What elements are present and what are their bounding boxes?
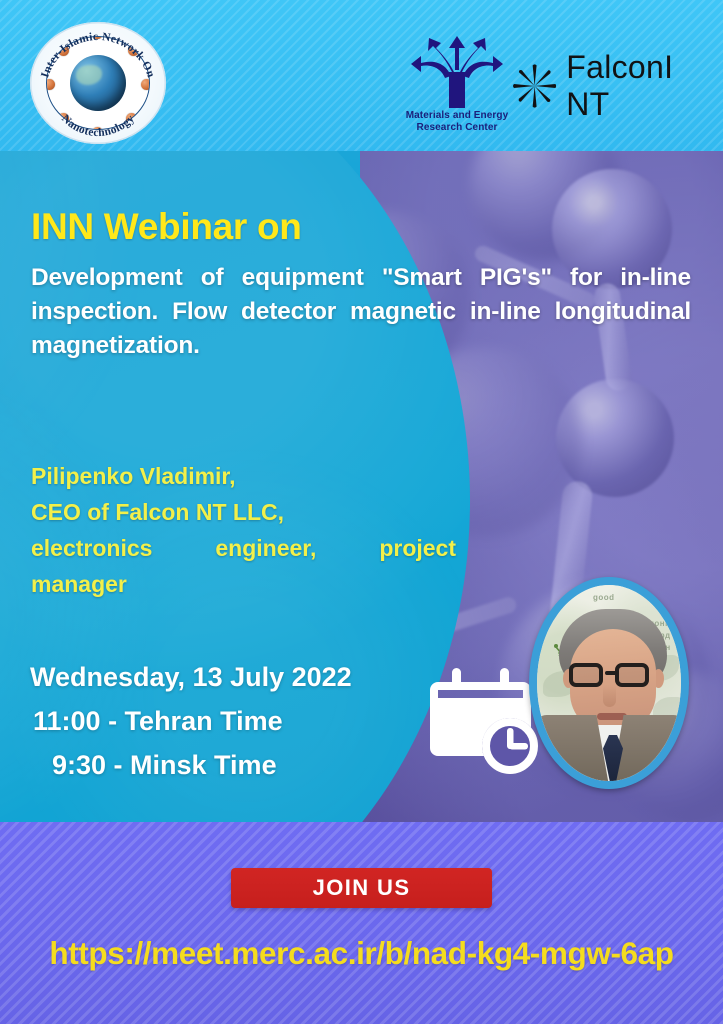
falcon-nt-label: FalconI NT — [566, 49, 723, 123]
event-time-minsk: 9:30 - Minsk Time — [30, 743, 450, 787]
inn-logo: Inter-Islamic Network On Nanotechnology — [30, 22, 166, 144]
pinwheel-icon — [513, 64, 556, 108]
header-band: Inter-Islamic Network On Nanotechnology — [0, 0, 723, 151]
speaker-title-b: engineer, — [215, 530, 316, 566]
merc-arrow-tree-icon — [411, 36, 503, 108]
speaker-portrait: good ионн форд азион — [529, 577, 689, 789]
webinar-subtitle: Development of equipment "Smart PIG's" f… — [31, 261, 691, 363]
inn-logo-arc-text: Inter-Islamic Network On Nanotechnology — [30, 22, 166, 144]
merc-logo: Materials and Energy Research Center — [392, 36, 522, 141]
glasses-icon-right — [615, 663, 649, 687]
glasses-icon-left — [569, 663, 603, 687]
webinar-poster: Inter-Islamic Network On Nanotechnology — [0, 0, 723, 1024]
join-us-button[interactable]: JOIN US — [231, 868, 492, 908]
speaker-info: Pilipenko Vladimir, CEO of Falcon NT LLC… — [31, 458, 456, 602]
merc-caption-line-1: Materials and Energy — [392, 110, 522, 122]
main-content: INN Webinar on Development of equipment … — [0, 151, 723, 822]
glasses-bridge — [605, 671, 617, 675]
svg-text:Nanotechnology: Nanotechnology — [59, 113, 137, 139]
speaker-name: Pilipenko Vladimir, — [31, 458, 456, 494]
speaker-title-c: project — [379, 530, 456, 566]
event-time-tehran: 11:00 - Tehran Time — [30, 699, 450, 743]
speaker-title-d: manager — [31, 566, 456, 602]
schedule-block: Wednesday, 13 July 2022 11:00 - Tehran T… — [30, 655, 450, 787]
merc-caption-line-2: Research Center — [392, 122, 522, 134]
svg-text:Inter-Islamic Network On: Inter-Islamic Network On — [39, 31, 157, 80]
speaker-title-a: electronics — [31, 530, 152, 566]
meeting-url-link[interactable]: https://meet.merc.ac.ir/b/nad-kg4-mgw-6a… — [0, 935, 723, 972]
page-title: INN Webinar on — [31, 207, 511, 247]
portrait-nose — [603, 685, 616, 707]
speaker-role: CEO of Falcon NT LLC, — [31, 494, 456, 530]
inn-logo-top-text: Inter-Islamic Network On — [39, 31, 157, 80]
portrait-jacket-left — [534, 715, 609, 789]
footer-band — [0, 822, 723, 1024]
event-date: Wednesday, 13 July 2022 — [30, 655, 450, 699]
calendar-clock-icon — [430, 668, 542, 776]
falcon-nt-logo: FalconI NT — [513, 62, 723, 110]
inn-logo-bottom-text: Nanotechnology — [59, 113, 137, 139]
merc-logo-caption: Materials and Energy Research Center — [392, 110, 522, 134]
